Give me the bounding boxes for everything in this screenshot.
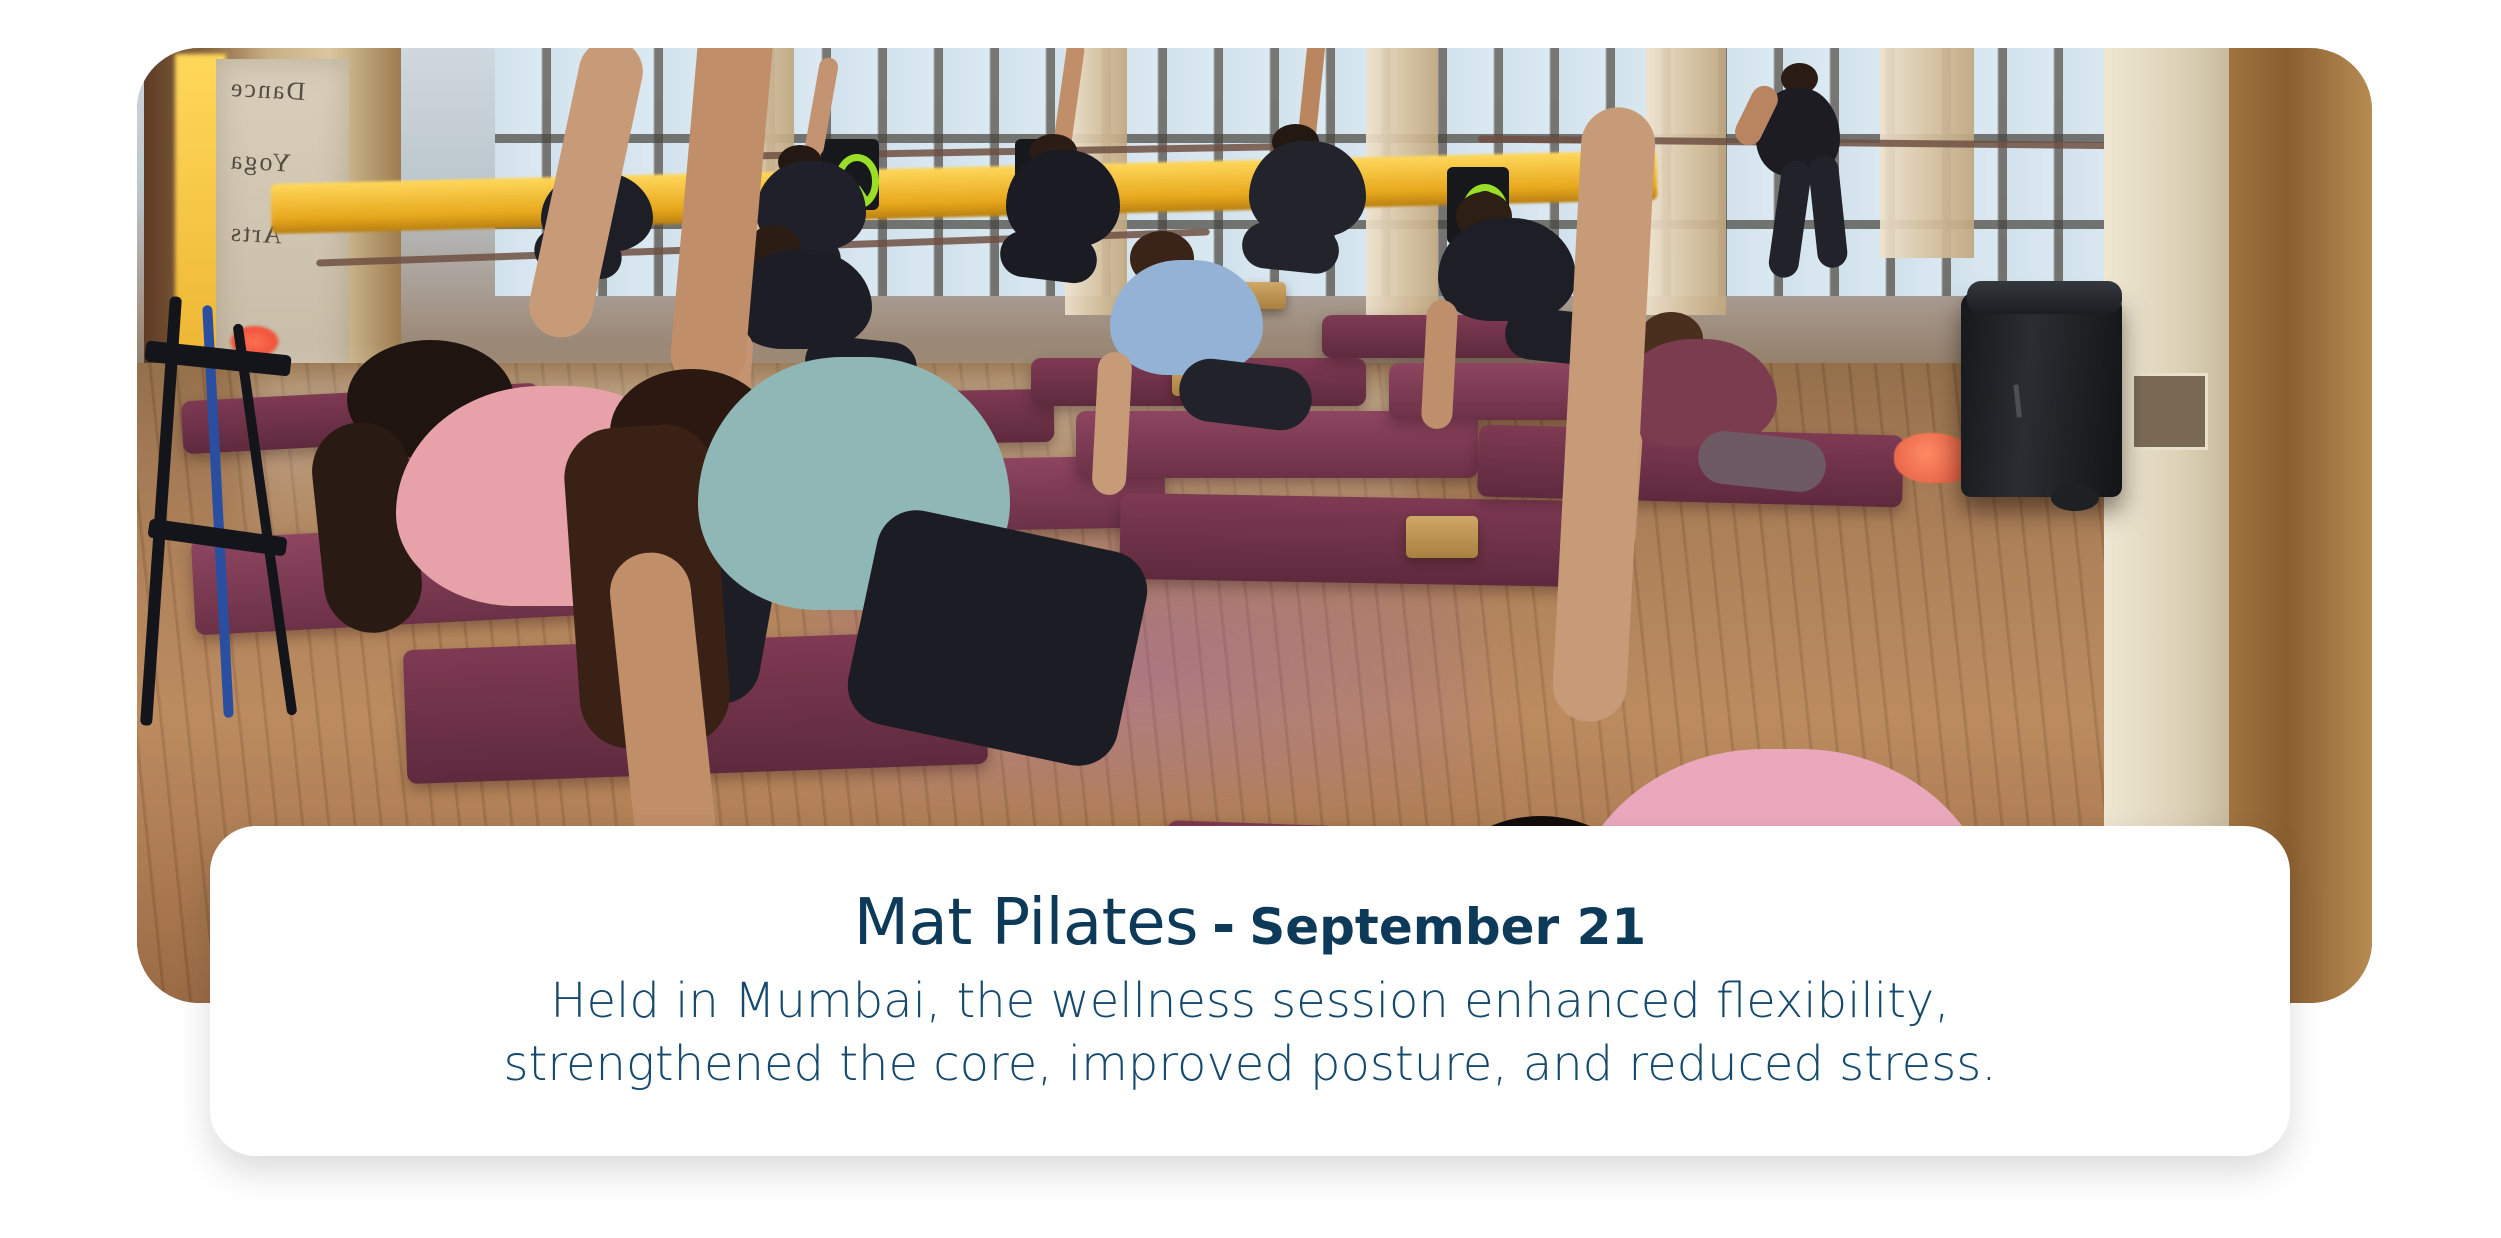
curtain (1880, 48, 1974, 258)
participant (1735, 67, 1869, 277)
curtain (1646, 48, 1726, 315)
speaker-wheel (2051, 485, 2099, 512)
event-card: Dance Yoga Arts (0, 0, 2501, 1238)
sign-word-yoga: Yoga (228, 145, 291, 178)
participant (1076, 220, 1322, 507)
speaker-handle (1967, 281, 2121, 314)
title-separator: - (1198, 893, 1249, 958)
event-title: Mat Pilates (854, 886, 1198, 960)
title-row: Mat Pilates - September 21 (854, 886, 1646, 960)
sign-word-dance: Dance (228, 73, 306, 107)
event-description-line-2: strengthened the core, improved posture,… (504, 1033, 1997, 1096)
wall-socket (2131, 373, 2209, 451)
participant-foreground-center (472, 277, 1098, 850)
event-info-card: Mat Pilates - September 21 Held in Mumba… (210, 826, 2290, 1156)
event-date: September 21 (1249, 898, 1646, 956)
event-description-line-1: Held in Mumbai, the wellness session enh… (550, 970, 1949, 1033)
